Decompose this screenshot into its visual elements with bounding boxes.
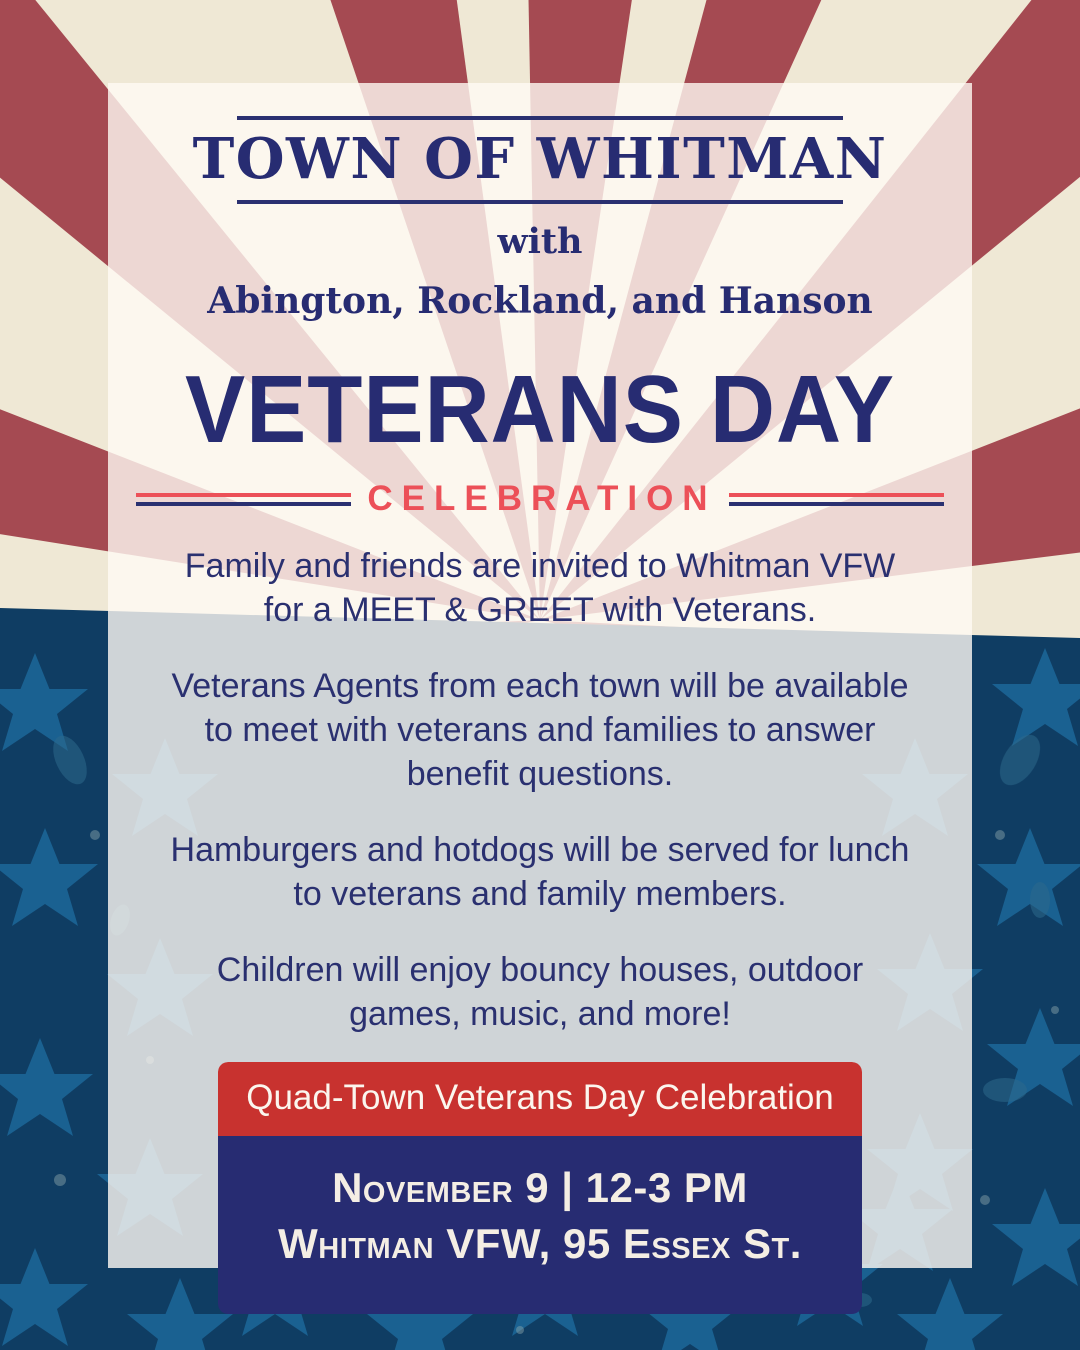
event-date-time: November 9 | 12-3 PM: [228, 1160, 852, 1216]
title-rule-top: [237, 116, 843, 120]
title-rule-bottom: [237, 200, 843, 204]
event-banner-label: Quad-Town Veterans Day Celebration: [218, 1062, 862, 1136]
event-details-box: Quad-Town Veterans Day Celebration Novem…: [218, 1062, 862, 1314]
event-details-panel: November 9 | 12-3 PM Whitman VFW, 95 Ess…: [218, 1136, 862, 1314]
poster-canvas: TOWN OF WHITMAN with Abington, Rockland,…: [0, 0, 1080, 1350]
event-location: Whitman VFW, 95 Essex St.: [228, 1216, 852, 1272]
poster-content: TOWN OF WHITMAN with Abington, Rockland,…: [108, 83, 972, 1268]
headline-main: VETERANS DAY: [160, 358, 920, 462]
page-title: TOWN OF WHITMAN: [136, 126, 944, 192]
body-paragraph: Family and friends are invited to Whitma…: [136, 544, 944, 632]
body-paragraph: Veterans Agents from each town will be a…: [136, 664, 944, 796]
partner-towns-label: Abington, Rockland, and Hanson: [136, 278, 944, 324]
body-paragraph: Children will enjoy bouncy houses, outdo…: [136, 948, 944, 1036]
body-copy: Family and friends are invited to Whitma…: [136, 544, 944, 1036]
body-paragraph: Hamburgers and hotdogs will be served fo…: [136, 828, 944, 916]
celebration-rule-left: [136, 493, 351, 506]
with-label: with: [136, 220, 944, 264]
celebration-rule-right: [729, 493, 944, 506]
headline-sub: CELEBRATION: [363, 480, 716, 518]
celebration-divider-row: CELEBRATION: [136, 480, 944, 518]
